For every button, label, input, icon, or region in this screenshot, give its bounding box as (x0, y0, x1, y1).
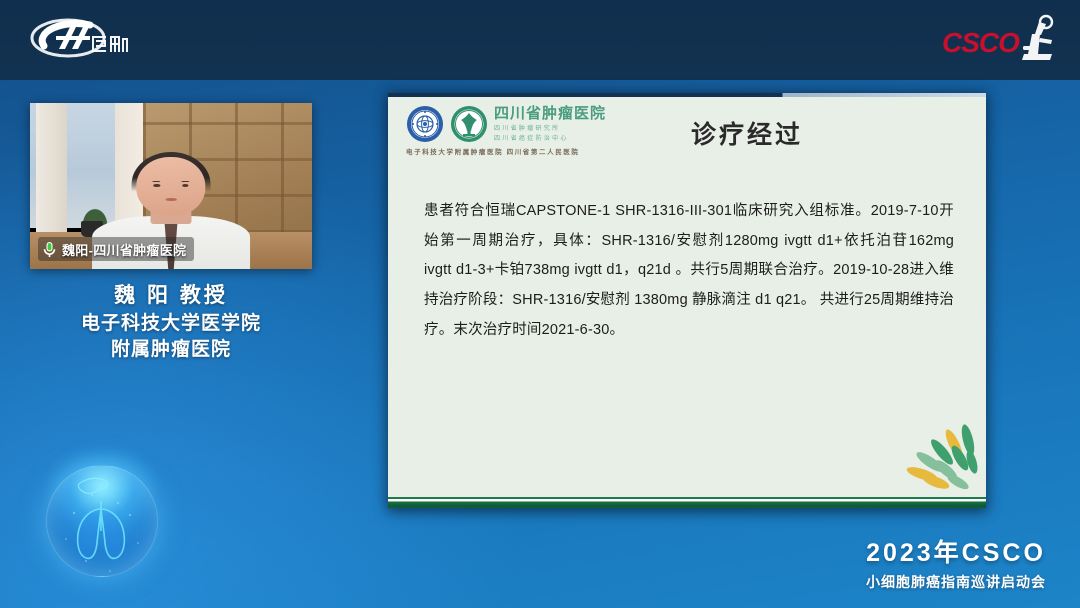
presenter-org-line-2: 附属肿瘤医院 (30, 337, 312, 363)
event-year-title: 2023年CSCO (850, 533, 1062, 569)
presenter-video-tile[interactable]: 魏阳-四川省肿瘤医院 (30, 103, 312, 269)
curtain-left (36, 103, 67, 232)
event-subtitle: 小细胞肺癌指南巡讲启动会 (850, 572, 1062, 592)
slide-title: 诊疗经过 (388, 115, 986, 151)
mouth (165, 198, 176, 200)
broadcast-stage: 恒瑞 CSCO CSCO (0, 0, 1080, 608)
event-branding: 2023年CSCO 小细胞肺癌指南巡讲启动会 (850, 533, 1062, 592)
csco-logo: CSCO CSCO (940, 10, 1060, 68)
eyebrow-right (181, 181, 189, 183)
lung-outline-icon (22, 443, 182, 598)
eye-right (182, 184, 188, 186)
participant-name-overlay: 魏阳-四川省肿瘤医院 (38, 237, 194, 261)
presentation-slide[interactable]: 四川省肿瘤医院 四川省肿瘤研究所 四川省癌症防治中心 电子科技大学附属肿瘤医院 … (388, 93, 986, 508)
eye-left (154, 184, 160, 186)
eyebrow-left (152, 181, 160, 183)
svg-text:CSCO: CSCO (942, 27, 1020, 58)
leaf-fan-decoration (876, 402, 986, 494)
lung-globe-graphic (22, 443, 182, 598)
presenter-info-block: 魏 阳 教授 电子科技大学医学院 附属肿瘤医院 (30, 281, 312, 363)
presenter-org-line-1: 电子科技大学医学院 (30, 311, 312, 337)
slide-bottom-border (388, 496, 986, 508)
slide-header: 四川省肿瘤医院 四川省肿瘤研究所 四川省癌症防治中心 电子科技大学附属肿瘤医院 … (388, 97, 986, 159)
header-band (0, 0, 1080, 80)
hengrui-logo: 恒瑞 (26, 16, 146, 64)
presenter-name: 魏 阳 教授 (30, 281, 312, 311)
slide-body-text: 患者符合恒瑞CAPSTONE-1 SHR-1316-III-301临床研究入组标… (424, 197, 954, 346)
participant-label: 魏阳-四川省肿瘤医院 (62, 240, 186, 259)
face (136, 157, 205, 217)
microphone-icon (42, 241, 57, 258)
